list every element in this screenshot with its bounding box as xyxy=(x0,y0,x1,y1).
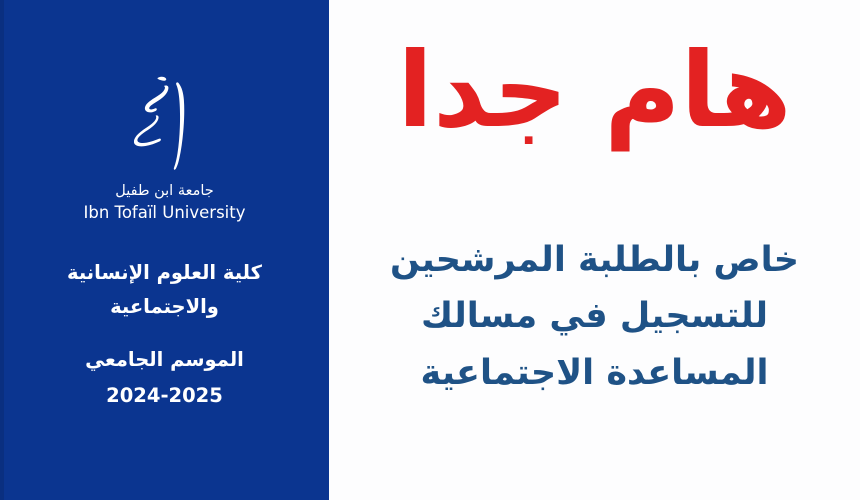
announcement-body-line-1: خاص بالطلبة المرشحين xyxy=(343,232,846,289)
faculty-name: كلية العلوم الإنسانية والاجتماعية xyxy=(0,256,329,324)
faculty-name-line-2: والاجتماعية xyxy=(0,290,329,324)
announcement-poster: جامعة ابن طفيل Ibn Tofaïl University كلي… xyxy=(0,0,860,500)
academic-season: الموسم الجامعي 2024-2025 xyxy=(0,342,329,414)
university-logo: جامعة ابن طفيل Ibn Tofaïl University xyxy=(0,74,329,222)
university-name-arabic: جامعة ابن طفيل xyxy=(115,184,213,200)
university-name-latin: Ibn Tofaïl University xyxy=(84,204,246,222)
academic-season-label: الموسم الجامعي xyxy=(0,342,329,378)
academic-season-year: 2024-2025 xyxy=(0,378,329,414)
brand-panel: جامعة ابن طفيل Ibn Tofaïl University كلي… xyxy=(0,0,329,500)
ibn-tofail-logo-mark-icon xyxy=(134,74,196,172)
announcement-body-line-2: للتسجيل في مسالك xyxy=(343,288,846,345)
announcement-body-line-3: المساعدة الاجتماعية xyxy=(343,345,846,402)
announcement-body: خاص بالطلبة المرشحين للتسجيل في مسالك ال… xyxy=(343,232,846,402)
announcement-headline: هام جدا xyxy=(397,38,791,142)
faculty-name-line-1: كلية العلوم الإنسانية xyxy=(0,256,329,290)
message-panel: هام جدا خاص بالطلبة المرشحين للتسجيل في … xyxy=(329,0,860,500)
